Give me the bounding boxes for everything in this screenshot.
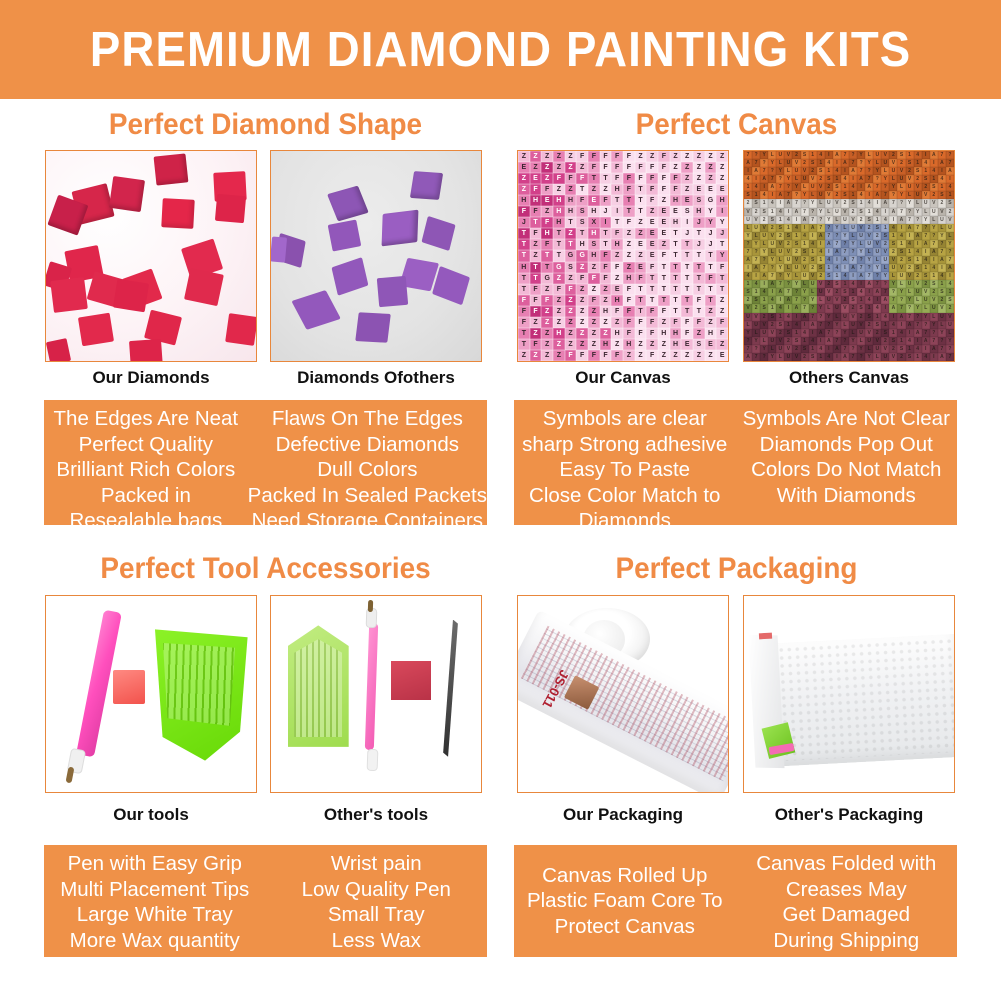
canvas-symbol-cell: 7 <box>784 288 792 296</box>
canvas-symbol-cell: 2 <box>792 345 800 353</box>
canvas-symbol-cell: ? <box>922 321 930 329</box>
canvas-symbol-cell: V <box>857 224 865 232</box>
canvas-symbol-cell: 1 <box>889 329 897 337</box>
canvas-symbol-cell: 1 <box>752 288 760 296</box>
canvas-symbol-cell: Z <box>565 317 577 328</box>
canvas-symbol-cell: V <box>809 272 817 280</box>
photo-frame-our-diamonds <box>45 150 257 362</box>
canvas-symbol-cell: Z <box>716 339 728 350</box>
canvas-symbol-cell: T <box>693 284 705 295</box>
canvas-symbol-cell: S <box>565 262 577 273</box>
canvas-symbol-cell: T <box>658 273 670 284</box>
canvas-symbol-cell: S <box>760 208 768 216</box>
canvas-symbol-cell: 7 <box>889 199 897 207</box>
canvas-symbol-cell: L <box>792 272 800 280</box>
canvas-symbol-cell: 4 <box>857 191 865 199</box>
canvas-symbol-cell: Z <box>576 306 588 317</box>
panel-line: Creases May <box>786 877 907 903</box>
canvas-symbol-cell: F <box>530 228 542 239</box>
canvas-symbol-cell: T <box>705 284 717 295</box>
canvas-symbol-cell: E <box>693 184 705 195</box>
canvas-symbol-cell: L <box>889 175 897 183</box>
canvas-symbol-cell: 4 <box>752 280 760 288</box>
canvas-symbol-cell: 4 <box>930 264 938 272</box>
canvas-symbol-cell: E <box>646 217 658 228</box>
canvas-symbol-cell: 2 <box>801 159 809 167</box>
canvas-symbol-cell: F <box>658 173 670 184</box>
canvas-symbol-cell: 7 <box>946 256 954 264</box>
canvas-symbol-cell: A <box>752 264 760 272</box>
canvas-symbol-cell: I <box>768 288 776 296</box>
canvas-symbol-cell: 4 <box>833 167 841 175</box>
canvas-symbol-cell: 4 <box>817 151 825 159</box>
canvas-symbol-cell: 2 <box>857 216 865 224</box>
canvas-symbol-cell: 2 <box>889 345 897 353</box>
canvas-symbol-cell: 2 <box>817 175 825 183</box>
canvas-symbol-cell: 2 <box>946 208 954 216</box>
canvas-symbol-cell: Y <box>906 296 914 304</box>
canvas-symbol-cell: I <box>841 167 849 175</box>
canvas-symbol-cell: F <box>623 328 635 339</box>
canvas-symbol-cell: I <box>881 208 889 216</box>
canvas-symbol-cell: 1 <box>760 296 768 304</box>
canvas-symbol-cell: A <box>801 216 809 224</box>
canvas-symbol-cell: 2 <box>744 296 752 304</box>
canvas-symbol-cell: 1 <box>768 208 776 216</box>
canvas-symbol-cell: ? <box>897 296 905 304</box>
canvas-symbol-cell: V <box>873 337 881 345</box>
canvas-symbol-cell: A <box>817 232 825 240</box>
canvas-symbol-cell: 4 <box>849 183 857 191</box>
canvas-symbol-cell: S <box>693 339 705 350</box>
canvas-symbol-cell: ? <box>938 337 946 345</box>
canvas-symbol-cell: A <box>792 208 800 216</box>
canvas-symbol-cell: Z <box>565 328 577 339</box>
canvas-symbol-cell: 4 <box>744 272 752 280</box>
canvas-symbol-cell: V <box>930 199 938 207</box>
canvas-symbol-cell: V <box>881 151 889 159</box>
panel-column-other-diamonds: Flaws On The Edges Defective Diamonds Du… <box>248 400 487 525</box>
canvas-symbol-cell: U <box>841 313 849 321</box>
canvas-symbol-cell: 7 <box>817 321 825 329</box>
canvas-symbol-cell: 7 <box>841 151 849 159</box>
canvas-symbol-cell: V <box>833 296 841 304</box>
canvas-symbol-cell: Z <box>646 151 658 162</box>
canvas-symbol-cell: H <box>611 239 623 250</box>
canvas-symbol-cell: 7 <box>889 296 897 304</box>
canvas-symbol-cell: 1 <box>792 329 800 337</box>
canvas-symbol-cell: J <box>693 239 705 250</box>
section-heading-canvas: Perfect Canvas <box>531 108 943 142</box>
canvas-symbol-cell: I <box>801 224 809 232</box>
canvas-symbol-cell: 2 <box>801 256 809 264</box>
canvas-symbol-cell: 2 <box>752 208 760 216</box>
canvas-symbol-cell: Z <box>693 350 705 361</box>
canvas-symbol-cell: 7 <box>744 151 752 159</box>
canvas-symbol-cell: 7 <box>849 159 857 167</box>
thin-pen-tip <box>367 600 373 612</box>
canvas-symbol-cell: H <box>611 328 623 339</box>
canvas-symbol-cell: A <box>889 304 897 312</box>
canvas-symbol-cell: T <box>600 239 612 250</box>
canvas-symbol-cell: U <box>849 224 857 232</box>
canvas-symbol-cell: U <box>817 191 825 199</box>
canvas-symbol-cell: V <box>760 321 768 329</box>
canvas-symbol-cell: L <box>857 240 865 248</box>
panel-line: Low Quality Pen <box>302 877 451 903</box>
canvas-symbol-cell: F <box>600 350 612 361</box>
canvas-symbol-cell: X <box>588 217 600 228</box>
canvas-symbol-cell: L <box>881 264 889 272</box>
canvas-symbol-cell: T <box>658 295 670 306</box>
canvas-symbol-cell: Z <box>530 350 542 361</box>
canvas-symbol-cell: U <box>922 199 930 207</box>
canvas-symbol-cell: 2 <box>833 288 841 296</box>
canvas-symbol-cell: 4 <box>744 175 752 183</box>
canvas-symbol-cell: V <box>897 167 905 175</box>
canvas-symbol-cell: E <box>530 173 542 184</box>
canvas-symbol-cell: L <box>865 151 873 159</box>
canvas-symbol-cell: U <box>865 240 873 248</box>
canvas-symbol-cell: 1 <box>760 199 768 207</box>
canvas-symbol-cell: I <box>744 167 752 175</box>
canvas-symbol-cell: ? <box>817 313 825 321</box>
canvas-symbol-cell: 7 <box>897 304 905 312</box>
canvas-symbol-cell: F <box>623 162 635 173</box>
canvas-symbol-cell: F <box>565 173 577 184</box>
canvas-symbol-cell: Y <box>946 337 954 345</box>
canvas-symbol-cell: E <box>635 239 647 250</box>
canvas-symbol-cell: 1 <box>857 199 865 207</box>
canvas-symbol-cell: I <box>889 313 897 321</box>
caption-others-canvas: Others Canvas <box>743 368 955 388</box>
canvas-symbol-cell: I <box>809 329 817 337</box>
canvas-symbol-cell: U <box>889 264 897 272</box>
canvas-symbol-cell: 4 <box>825 256 833 264</box>
canvas-symbol-cell: L <box>768 345 776 353</box>
canvas-symbol-cell: 7 <box>801 304 809 312</box>
canvas-symbol-cell: S <box>938 288 946 296</box>
canvas-symbol-cell: 2 <box>881 240 889 248</box>
canvas-symbol-cell: T <box>635 184 647 195</box>
canvas-symbol-cell: V <box>784 345 792 353</box>
canvas-symbol-cell: 7 <box>865 272 873 280</box>
canvas-symbol-cell: A <box>801 313 809 321</box>
canvas-symbol-cell: G <box>565 250 577 261</box>
canvas-symbol-cell: Y <box>897 191 905 199</box>
wax-square-small <box>391 661 431 700</box>
canvas-symbol-cell: Z <box>623 262 635 273</box>
canvas-symbol-cell: 1 <box>865 208 873 216</box>
canvas-symbol-cell: S <box>744 191 752 199</box>
canvas-symbol-cell: Y <box>809 199 817 207</box>
canvas-symbol-cell: V <box>881 248 889 256</box>
canvas-symbol-cell: A <box>881 199 889 207</box>
canvas-symbol-cell: E <box>705 339 717 350</box>
canvas-symbol-cell: L <box>768 248 776 256</box>
canvas-symbol-cell: L <box>776 256 784 264</box>
canvas-symbol-cell: I <box>784 304 792 312</box>
canvas-symbol-cell: T <box>553 239 565 250</box>
canvas-symbol-cell: V <box>768 329 776 337</box>
canvas-symbol-cell: U <box>744 216 752 224</box>
canvas-symbol-cell: A <box>784 296 792 304</box>
canvas-symbol-cell: T <box>541 262 553 273</box>
canvas-symbol-cell: Z <box>716 295 728 306</box>
canvas-symbol-cell: Z <box>600 328 612 339</box>
canvas-symbol-cell: 4 <box>889 224 897 232</box>
canvas-symbol-cell: Z <box>658 195 670 206</box>
canvas-symbol-cell: 4 <box>881 216 889 224</box>
canvas-symbol-cell: Z <box>646 206 658 217</box>
panel-line: Less Wax <box>332 928 421 954</box>
canvas-symbol-cell: ? <box>938 240 946 248</box>
canvas-symbol-cell: Z <box>716 151 728 162</box>
canvas-symbol-cell: A <box>809 321 817 329</box>
canvas-symbol-cell: 1 <box>906 248 914 256</box>
canvas-symbol-cell: I <box>752 272 760 280</box>
canvas-symbol-cell: 1 <box>930 272 938 280</box>
canvas-symbol-cell: 7 <box>930 240 938 248</box>
canvas-symbol-cell: I <box>760 183 768 191</box>
canvas-symbol-cell: Z <box>623 239 635 250</box>
canvas-symbol-cell: I <box>611 206 623 217</box>
canvas-symbol-cell: T <box>518 273 530 284</box>
canvas-symbol-cell: S <box>792 240 800 248</box>
canvas-symbol-cell: F <box>658 306 670 317</box>
panel-line: Close Color Match to <box>529 483 720 509</box>
canvas-symbol-cell: F <box>530 284 542 295</box>
canvas-symbol-cell: I <box>760 280 768 288</box>
canvas-symbol-cell: Z <box>530 239 542 250</box>
canvas-symbol-cell: A <box>873 288 881 296</box>
canvas-symbol-cell: A <box>817 329 825 337</box>
canvas-symbol-cell: Z <box>541 317 553 328</box>
canvas-symbol-cell: 2 <box>825 183 833 191</box>
canvas-symbol-cell: F <box>588 295 600 306</box>
canvas-symbol-cell: I <box>930 256 938 264</box>
canvas-symbol-cell: Z <box>553 151 565 162</box>
canvas-symbol-cell: 4 <box>760 288 768 296</box>
canvas-symbol-cell: 2 <box>809 167 817 175</box>
canvas-symbol-cell: 7 <box>744 345 752 353</box>
canvas-symbol-cell: Z <box>553 306 565 317</box>
canvas-symbol-cell: 1 <box>801 337 809 345</box>
canvas-symbol-cell: ? <box>841 337 849 345</box>
canvas-symbol-cell: 7 <box>776 280 784 288</box>
canvas-symbol-cell: 7 <box>841 345 849 353</box>
canvas-symbol-cell: F <box>600 195 612 206</box>
canvas-symbol-cell: 7 <box>760 264 768 272</box>
canvas-symbol-cell: S <box>801 248 809 256</box>
photo-frame-other-tools <box>270 595 482 793</box>
section-heading-tools: Perfect Tool Accessories <box>60 552 472 586</box>
canvas-symbol-cell: Y <box>841 232 849 240</box>
canvas-symbol-cell: S <box>881 232 889 240</box>
canvas-symbol-cell: Z <box>553 162 565 173</box>
canvas-symbol-cell: 7 <box>914 321 922 329</box>
canvas-symbol-cell: I <box>889 216 897 224</box>
canvas-symbol-cell: 2 <box>914 175 922 183</box>
canvas-symbol-cell: 7 <box>825 232 833 240</box>
canvas-symbol-cell: E <box>646 228 658 239</box>
canvas-symbol-cell: L <box>881 167 889 175</box>
canvas-symbol-cell: F <box>541 239 553 250</box>
canvas-symbol-cell: A <box>873 191 881 199</box>
canvas-symbol-cell: 1 <box>946 288 954 296</box>
canvas-symbol-cell: Z <box>518 151 530 162</box>
canvas-symbol-cell: 4 <box>792 321 800 329</box>
canvas-symbol-cell: A <box>897 216 905 224</box>
canvas-symbol-cell: ? <box>768 167 776 175</box>
canvas-symbol-cell: L <box>849 329 857 337</box>
canvas-symbol-cell: Z <box>600 184 612 195</box>
canvas-symbol-cell: S <box>776 321 784 329</box>
canvas-symbol-cell: L <box>938 224 946 232</box>
canvas-symbol-cell: E <box>658 228 670 239</box>
canvas-symbol-cell: F <box>565 350 577 361</box>
canvas-symbol-cell: 2 <box>784 240 792 248</box>
canvas-symbol-cell: S <box>865 216 873 224</box>
panel-line: Flaws On The Edges <box>272 406 463 432</box>
canvas-symbol-cell: A <box>841 159 849 167</box>
canvas-symbol-cell: 7 <box>792 296 800 304</box>
canvas-symbol-cell: T <box>670 295 682 306</box>
canvas-symbol-cell: T <box>681 273 693 284</box>
canvas-symbol-cell: I <box>922 248 930 256</box>
canvas-symbol-cell: 1 <box>744 280 752 288</box>
canvas-symbol-cell: 4 <box>938 272 946 280</box>
canvas-symbol-cell: F <box>681 328 693 339</box>
canvas-symbol-cell: Z <box>518 173 530 184</box>
canvas-symbol-cell: ? <box>881 280 889 288</box>
canvas-symbol-cell: U <box>906 183 914 191</box>
canvas-symbol-cell: ? <box>849 151 857 159</box>
canvas-symbol-cell: Z <box>635 228 647 239</box>
canvas-symbol-cell: H <box>518 262 530 273</box>
canvas-symbol-cell: V <box>914 280 922 288</box>
canvas-symbol-cell: A <box>809 224 817 232</box>
canvas-symbol-cell: I <box>897 321 905 329</box>
canvas-symbol-cell: T <box>670 228 682 239</box>
canvas-symbol-cell: ? <box>776 175 784 183</box>
canvas-symbol-cell: Z <box>576 262 588 273</box>
canvas-symbol-cell: U <box>873 248 881 256</box>
canvas-symbol-cell: U <box>809 280 817 288</box>
canvas-symbol-cell: E <box>716 350 728 361</box>
canvas-symbol-cell: ? <box>784 183 792 191</box>
canvas-symbol-cell: I <box>752 175 760 183</box>
canvas-symbol-cell: I <box>600 217 612 228</box>
canvas-symbol-cell: Y <box>760 248 768 256</box>
canvas-symbol-cell: F <box>565 284 577 295</box>
canvas-symbol-cell: Y <box>889 183 897 191</box>
canvas-symbol-cell: U <box>768 240 776 248</box>
canvas-symbol-cell: Z <box>716 173 728 184</box>
canvas-symbol-cell: U <box>760 329 768 337</box>
canvas-symbol-cell: I <box>817 240 825 248</box>
canvas-symbol-cell: U <box>776 151 784 159</box>
canvas-symbol-cell: L <box>873 159 881 167</box>
canvas-symbol-cell: U <box>914 191 922 199</box>
canvas-symbol-cell: L <box>914 199 922 207</box>
canvas-symbol-cell: I <box>914 337 922 345</box>
canvas-symbol-cell: I <box>841 264 849 272</box>
canvas-symbol-cell: H <box>553 206 565 217</box>
canvas-symbol-cell: Y <box>857 151 865 159</box>
canvas-symbol-cell: I <box>922 151 930 159</box>
canvas-symbol-cell: A <box>825 240 833 248</box>
canvas-symbol-cell: V <box>906 175 914 183</box>
canvas-symbol-cell: S <box>792 337 800 345</box>
canvas-symbol-cell: 7 <box>784 191 792 199</box>
canvas-symbol-cell: Z <box>553 339 565 350</box>
canvas-symbol-cell: ? <box>752 345 760 353</box>
canvas-symbol-cell: S <box>922 175 930 183</box>
canvas-symbol-cell: E <box>658 217 670 228</box>
canvas-symbol-cell: F <box>541 295 553 306</box>
canvas-symbol-cell: T <box>646 284 658 295</box>
canvas-symbol-cell: Z <box>635 151 647 162</box>
canvas-symbol-cell: Y <box>768 256 776 264</box>
canvas-symbol-cell: Y <box>897 288 905 296</box>
canvas-symbol-cell: A <box>906 224 914 232</box>
canvas-symbol-cell: V <box>809 175 817 183</box>
canvas-symbol-cell: Y <box>865 353 873 361</box>
canvas-symbol-cell: F <box>716 328 728 339</box>
canvas-symbol-cell: 1 <box>768 304 776 312</box>
canvas-symbol-cell: Z <box>705 162 717 173</box>
canvas-symbol-cell: ? <box>833 329 841 337</box>
canvas-symbol-cell: A <box>825 337 833 345</box>
canvas-symbol-cell: F <box>611 306 623 317</box>
canvas-symbol-cell: ? <box>873 272 881 280</box>
canvas-symbol-cell: 1 <box>744 183 752 191</box>
canvas-symbol-cell: I <box>792 313 800 321</box>
canvas-symbol-cell: 4 <box>841 175 849 183</box>
canvas-symbol-cell: F <box>658 250 670 261</box>
canvas-symbol-cell: U <box>841 216 849 224</box>
canvas-symbol-cell: U <box>801 272 809 280</box>
canvas-symbol-cell: ? <box>865 167 873 175</box>
canvas-symbol-cell: 4 <box>889 321 897 329</box>
canvas-symbol-cell: V <box>865 232 873 240</box>
canvas-symbol-cell: S <box>825 272 833 280</box>
canvas-symbol-cell: F <box>635 317 647 328</box>
panel-line: Diamonds <box>579 508 671 534</box>
canvas-symbol-cell: 1 <box>938 183 946 191</box>
canvas-symbol-cell: 7 <box>809 216 817 224</box>
canvas-symbol-cell: I <box>716 206 728 217</box>
canvas-symbol-cell: V <box>938 208 946 216</box>
canvas-symbol-cell: F <box>623 184 635 195</box>
canvas-symbol-cell: Z <box>553 184 565 195</box>
canvas-symbol-cell: U <box>930 208 938 216</box>
panel-column-our-canvas: Symbols are clear sharp Strong adhesive … <box>514 400 736 525</box>
canvas-symbol-cell: L <box>873 353 881 361</box>
canvas-symbol-cell: S <box>752 296 760 304</box>
canvas-symbol-cell: S <box>914 167 922 175</box>
canvas-symbol-cell: Y <box>873 167 881 175</box>
panel-line: Perfect Quality <box>79 432 213 458</box>
canvas-symbol-cell: E <box>681 339 693 350</box>
red-square-diamonds-photo <box>46 151 256 361</box>
canvas-symbol-cell: 4 <box>776 304 784 312</box>
canvas-symbol-cell: H <box>658 328 670 339</box>
canvas-symbol-cell: Y <box>825 216 833 224</box>
canvas-symbol-cell: T <box>565 239 577 250</box>
canvas-symbol-cell: 7 <box>817 224 825 232</box>
